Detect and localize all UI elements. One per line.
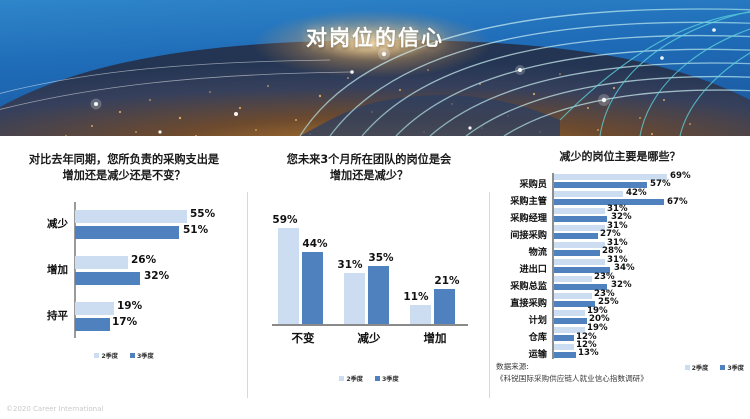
- chart1-bar-q2: [75, 210, 187, 223]
- chart2-bar-q3: [368, 266, 389, 324]
- chart1-value-q3: 17%: [112, 316, 137, 328]
- legend-label-q3: 3季度: [727, 363, 744, 372]
- chart3-category-label: 采购主管: [490, 193, 547, 207]
- chart2-value-q2: 31%: [335, 259, 365, 271]
- chart2-bar-q3: [434, 289, 455, 324]
- chart3-category-label: 计划: [490, 312, 547, 326]
- chart2-value-q2: 11%: [401, 291, 431, 303]
- chart3-category-label: 仓库: [490, 329, 547, 343]
- chart3-value-q2: 69%: [670, 171, 691, 181]
- legend-item-q3[interactable]: 3季度: [375, 374, 399, 383]
- chart1-value-q3: 51%: [183, 224, 208, 236]
- chart1-category-label: 减少: [0, 216, 68, 231]
- legend-swatch-q2-icon: [339, 376, 344, 381]
- chart2-value-q3: 21%: [432, 275, 462, 287]
- chart1-bar-q3: [75, 226, 179, 239]
- chart1-title-line1: 对比去年同期，您所负责的采购支出是: [29, 153, 219, 166]
- chart3-bar-q2: [554, 191, 623, 197]
- legend-item-q2[interactable]: 2季度: [339, 374, 363, 383]
- chart3-row: 采购总监 23% 32%: [490, 275, 750, 292]
- legend-label-q2: 2季度: [101, 351, 118, 360]
- chart2-plot: 59% 44% 不变 31% 35% 减少 11% 21% 增加: [248, 200, 490, 350]
- legend-swatch-q2-icon: [94, 353, 99, 358]
- chart3-bar-q3: [554, 233, 598, 239]
- chart1-plot: 减少 55% 51% 增加 26% 32% 持平 19% 17%: [0, 202, 248, 347]
- chart1-bar-q2: [75, 302, 114, 315]
- chart1-value-q2: 19%: [117, 300, 142, 312]
- chart3-plot: 采购员 69% 57% 采购主管 42% 67% 采购经理 31% 32%: [490, 171, 750, 371]
- legend-label-q2: 2季度: [346, 374, 363, 383]
- chart1-bar-q3: [75, 318, 110, 331]
- chart2-legend: 2季度 3季度: [248, 374, 490, 383]
- chart2-category-label: 减少: [338, 330, 400, 346]
- chart3-bar-q2: [554, 242, 605, 248]
- chart2-group: 31% 35% 减少: [338, 204, 400, 324]
- chart3-row: 直接采购 23% 25%: [490, 292, 750, 309]
- chart3-value-q3: 13%: [578, 348, 599, 358]
- chart1-bar-q3: [75, 272, 140, 285]
- legend-item-q3[interactable]: 3季度: [130, 351, 154, 360]
- chart3-value-q2: 42%: [626, 188, 647, 198]
- legend-label-q2: 2季度: [692, 363, 709, 372]
- chart3-category-label: 采购总监: [490, 278, 547, 292]
- chart2-title: 您未来3个月所在团队的岗位是会 增加还是减少？: [248, 152, 490, 184]
- chart3-bar-q2: [554, 310, 585, 316]
- chart2-group: 59% 44% 不变: [272, 204, 334, 324]
- chart3-bar-q2: [554, 259, 605, 265]
- legend-swatch-q2-icon: [685, 365, 690, 370]
- chart3-row: 计划 19% 20%: [490, 309, 750, 326]
- chart3-bar-q2: [554, 293, 592, 299]
- legend-item-q3[interactable]: 3季度: [720, 363, 744, 372]
- chart-panel-reduced-roles: 减少的岗位主要是哪些？ 采购员 69% 57% 采购主管 42% 67%: [490, 136, 750, 419]
- legend-item-q2[interactable]: 2季度: [685, 363, 709, 372]
- legend-swatch-q3-icon: [375, 376, 380, 381]
- chart3-value-q3: 34%: [614, 263, 635, 273]
- chart2-value-q3: 44%: [300, 238, 330, 250]
- hero-banner: 对岗位的信心: [0, 0, 750, 136]
- chart2-category-label: 增加: [404, 330, 466, 346]
- chart3-bar-q3: [554, 318, 587, 324]
- legend-swatch-q3-icon: [720, 365, 725, 370]
- charts-area: 对比去年同期，您所负责的采购支出是 增加还是减少还是不变？ 减少 55% 51%…: [0, 136, 750, 419]
- legend-label-q3: 3季度: [382, 374, 399, 383]
- source-note-value: 《科锐国际采购供应链人就业信心指数调研》: [496, 373, 696, 385]
- chart3-category-label: 采购员: [490, 176, 547, 190]
- chart3-category-label: 进出口: [490, 261, 547, 275]
- chart3-category-label: 物流: [490, 244, 547, 258]
- chart3-bar-q2: [554, 225, 605, 231]
- chart3-bar-q3: [554, 216, 607, 222]
- chart2-value-q3: 35%: [366, 252, 396, 264]
- copyright-text: ©2020 Career International: [6, 405, 103, 413]
- chart1-title: 对比去年同期，您所负责的采购支出是 增加还是减少还是不变？: [0, 152, 248, 184]
- chart1-group: 增加 26% 32%: [0, 252, 248, 294]
- chart1-category-label: 增加: [0, 262, 68, 277]
- chart3-bar-q2: [554, 276, 592, 282]
- chart3-value-q3: 57%: [650, 179, 671, 189]
- chart3-row: 仓库 19% 12%: [490, 326, 750, 343]
- chart-panel-spend-change: 对比去年同期，您所负责的采购支出是 增加还是减少还是不变？ 减少 55% 51%…: [0, 136, 248, 419]
- chart2-bar-q2: [410, 305, 431, 324]
- chart3-legend: 2季度 3季度: [685, 363, 744, 372]
- hero-background-illustration: [0, 0, 750, 136]
- chart2-bar-q3: [302, 252, 323, 324]
- chart1-value-q2: 55%: [190, 208, 215, 220]
- chart1-category-label: 持平: [0, 308, 68, 323]
- chart1-value-q2: 26%: [131, 254, 156, 266]
- chart1-bar-q2: [75, 256, 128, 269]
- chart3-category-label: 采购经理: [490, 210, 547, 224]
- chart-panel-headcount-outlook: 您未来3个月所在团队的岗位是会 增加还是减少？ 59% 44% 不变 31% 3…: [248, 136, 490, 419]
- chart3-bar-q3: [554, 250, 600, 256]
- legend-item-q2[interactable]: 2季度: [94, 351, 118, 360]
- chart1-title-line2: 增加还是减少还是不变？: [62, 169, 185, 182]
- chart1-group: 减少 55% 51%: [0, 206, 248, 248]
- chart3-bar-q3: [554, 335, 574, 341]
- chart2-group: 11% 21% 增加: [404, 204, 466, 324]
- chart3-bar-q2: [554, 344, 574, 350]
- chart2-title-line2: 增加还是减少？: [330, 169, 408, 182]
- chart1-legend: 2季度 3季度: [0, 351, 248, 360]
- page-title: 对岗位的信心: [0, 22, 750, 52]
- legend-label-q3: 3季度: [137, 351, 154, 360]
- chart1-group: 持平 19% 17%: [0, 298, 248, 340]
- source-note-label: 数据来源:: [496, 361, 696, 373]
- chart3-bar-q2: [554, 208, 605, 214]
- chart3-bar-q3: [554, 352, 576, 358]
- source-note: 数据来源: 《科锐国际采购供应链人就业信心指数调研》: [496, 361, 696, 385]
- chart2-value-q2: 59%: [270, 214, 300, 226]
- chart3-title: 减少的岗位主要是哪些？: [490, 149, 750, 165]
- chart3-row: 进出口 31% 34%: [490, 258, 750, 275]
- chart2-category-label: 不变: [272, 330, 334, 346]
- chart3-row: 运输 12% 13%: [490, 343, 750, 360]
- chart2-bar-q2: [278, 228, 299, 324]
- chart1-value-q3: 32%: [144, 270, 169, 282]
- chart3-category-label: 间接采购: [490, 227, 547, 241]
- chart2-title-line1: 您未来3个月所在团队的岗位是会: [287, 153, 451, 166]
- chart2-bar-q2: [344, 273, 365, 324]
- chart3-value-q3: 67%: [667, 197, 688, 207]
- chart3-category-label: 运输: [490, 346, 547, 360]
- legend-swatch-q3-icon: [130, 353, 135, 358]
- chart3-row: 采购员 69% 57%: [490, 173, 750, 190]
- chart3-category-label: 直接采购: [490, 295, 547, 309]
